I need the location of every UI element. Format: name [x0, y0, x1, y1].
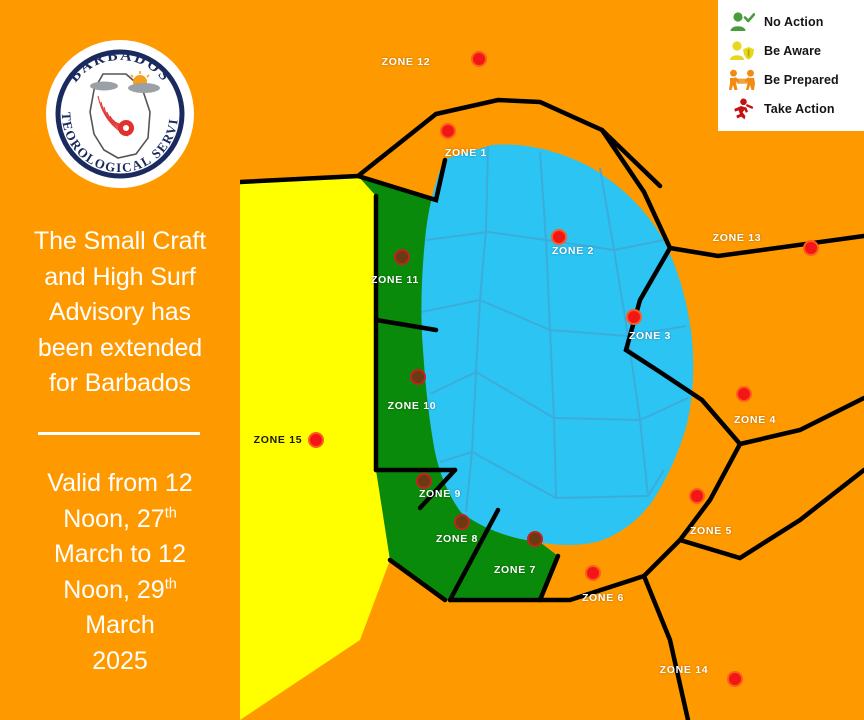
- advisory-line: for Barbados: [6, 366, 234, 402]
- legend-item-be-aware[interactable]: Be Aware: [727, 37, 864, 66]
- logo-cyclone-symbol: [118, 120, 134, 136]
- zone-marker-zone-15[interactable]: [308, 432, 324, 448]
- validity-line: March: [6, 608, 234, 644]
- zone-marker-zone-4[interactable]: [736, 386, 752, 402]
- zone-marker-zone-11[interactable]: [394, 249, 410, 265]
- zone-marker-zone-1[interactable]: [440, 123, 456, 139]
- zone-marker-zone-9[interactable]: [416, 473, 432, 489]
- legend-label: Take Action: [764, 102, 835, 116]
- legend-label: No Action: [764, 15, 823, 29]
- zone-marker-zone-2[interactable]: [551, 229, 567, 245]
- advisory-line: The Small Craft: [6, 224, 234, 260]
- barbados-meteorological-services-logo: BARBADOS METEOROLOGICAL SERVICES: [44, 38, 196, 190]
- zone-marker-zone-13[interactable]: [803, 240, 819, 256]
- person-check-icon: [727, 9, 757, 35]
- validity-line: 2025: [6, 644, 234, 680]
- advisory-line: and High Surf: [6, 260, 234, 296]
- zone-marker-zone-5[interactable]: [689, 488, 705, 504]
- logo-svg: BARBADOS METEOROLOGICAL SERVICES: [44, 38, 196, 190]
- zone-marker-zone-3[interactable]: [626, 309, 642, 325]
- advisory-line: been extended: [6, 331, 234, 367]
- person-running-icon: [727, 96, 757, 122]
- zone-marker-zone-8[interactable]: [454, 514, 470, 530]
- validity-period: Valid from 12 Noon, 27th March to 12 Noo…: [6, 466, 234, 679]
- legend-label: Be Aware: [764, 44, 821, 58]
- advisory-headline: The Small Craft and High Surf Advisory h…: [6, 224, 234, 402]
- zone-marker-zone-7[interactable]: [527, 531, 543, 547]
- zone-marker-zone-14[interactable]: [727, 671, 743, 687]
- advisory-line: Advisory has: [6, 295, 234, 331]
- zone-marker-zone-12[interactable]: [471, 51, 487, 67]
- zone-marker-zone-6[interactable]: [585, 565, 601, 581]
- person-shield-icon: [727, 38, 757, 64]
- validity-line: Noon, 29th: [6, 573, 234, 609]
- sidebar-panel: BARBADOS METEOROLOGICAL SERVICES The Sma…: [0, 0, 240, 720]
- validity-line: March to 12: [6, 537, 234, 573]
- alert-level-legend: No Action Be Aware: [718, 0, 864, 131]
- legend-item-take-action[interactable]: Take Action: [727, 95, 864, 124]
- legend-label: Be Prepared: [764, 73, 839, 87]
- validity-line: Valid from 12: [6, 466, 234, 502]
- legend-item-be-prepared[interactable]: Be Prepared: [727, 66, 864, 95]
- validity-line: Noon, 27th: [6, 502, 234, 538]
- people-carry-icon: [727, 67, 757, 93]
- legend-item-no-action[interactable]: No Action: [727, 8, 864, 37]
- text-divider: [38, 432, 200, 435]
- zone-marker-zone-10[interactable]: [410, 369, 426, 385]
- advisory-graphic: BARBADOS METEOROLOGICAL SERVICES The Sma…: [0, 0, 864, 720]
